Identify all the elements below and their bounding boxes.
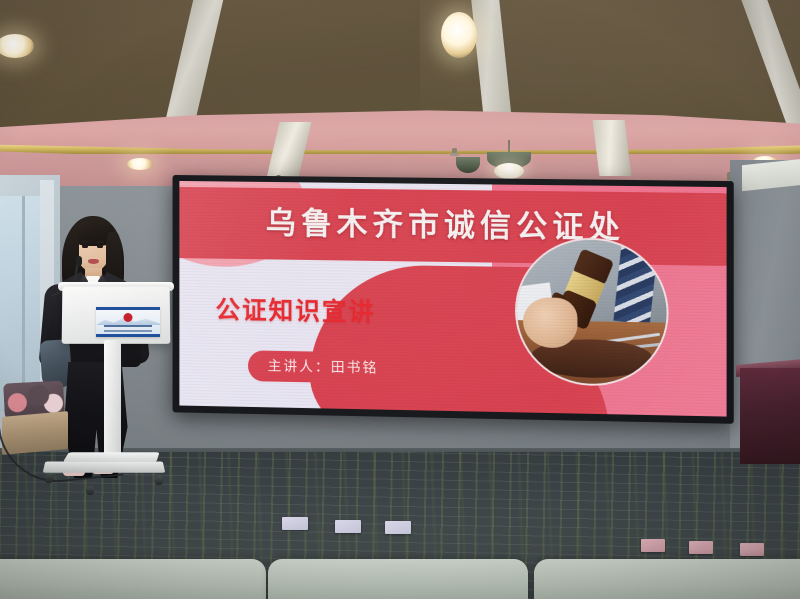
led-wall-screen[interactable]: 乌鲁木齐市诚信公证处 公证知识宣讲 主讲人：田书铭	[173, 175, 734, 424]
plaque-text-english	[104, 330, 152, 332]
soffit-beam-cap-right	[593, 120, 632, 176]
downlight-icon-3	[127, 158, 153, 170]
floor-paper-3	[385, 521, 411, 534]
podium-caster-2	[155, 476, 163, 485]
plaque-text-chinese	[104, 325, 152, 327]
photo-hand	[523, 297, 577, 348]
speaker-brow-left	[81, 241, 89, 243]
chair-back-3	[534, 559, 800, 599]
screen-display-area: 乌鲁木齐市诚信公证处 公证知识宣讲 主讲人：田书铭	[179, 181, 726, 417]
chair-back-1	[0, 559, 266, 599]
sprinkler-icon-3	[452, 148, 457, 154]
podium-column	[104, 340, 121, 458]
downlight-icon-2	[441, 12, 477, 58]
floor-paper-5	[689, 541, 713, 554]
chair-back-2	[268, 559, 528, 599]
national-emblem-icon	[124, 313, 133, 322]
podium-caster-1	[45, 474, 53, 483]
floor-paper-6	[740, 543, 764, 556]
slide-subtitle: 公证知识宣讲	[216, 290, 376, 328]
speaker-eye-right	[97, 245, 103, 248]
microphone-icon	[76, 256, 82, 266]
presentation-slide: 乌鲁木齐市诚信公证处 公证知识宣讲 主讲人：田书铭	[179, 181, 726, 417]
speaker-brow-right	[96, 241, 104, 243]
floor-paper-1	[282, 517, 308, 530]
podium-caster-3	[86, 486, 94, 495]
speaker-mouth	[88, 259, 99, 264]
speaker-eye-left	[82, 245, 88, 248]
floor-paper-4	[641, 539, 665, 552]
podium-base-rail	[63, 452, 160, 462]
pendant-globe	[494, 163, 524, 179]
conference-room-scene: 乌鲁木齐市诚信公证处 公证知识宣讲 主讲人：田书铭	[0, 0, 800, 599]
right-counter	[740, 368, 800, 464]
window-mullion	[22, 196, 25, 411]
podium-plaque	[96, 307, 160, 337]
floor-paper-2	[335, 520, 361, 533]
slide-speaker-badge: 主讲人：田书铭	[248, 350, 398, 384]
podium-base-plate	[43, 461, 166, 472]
gavel-photo	[515, 237, 668, 387]
